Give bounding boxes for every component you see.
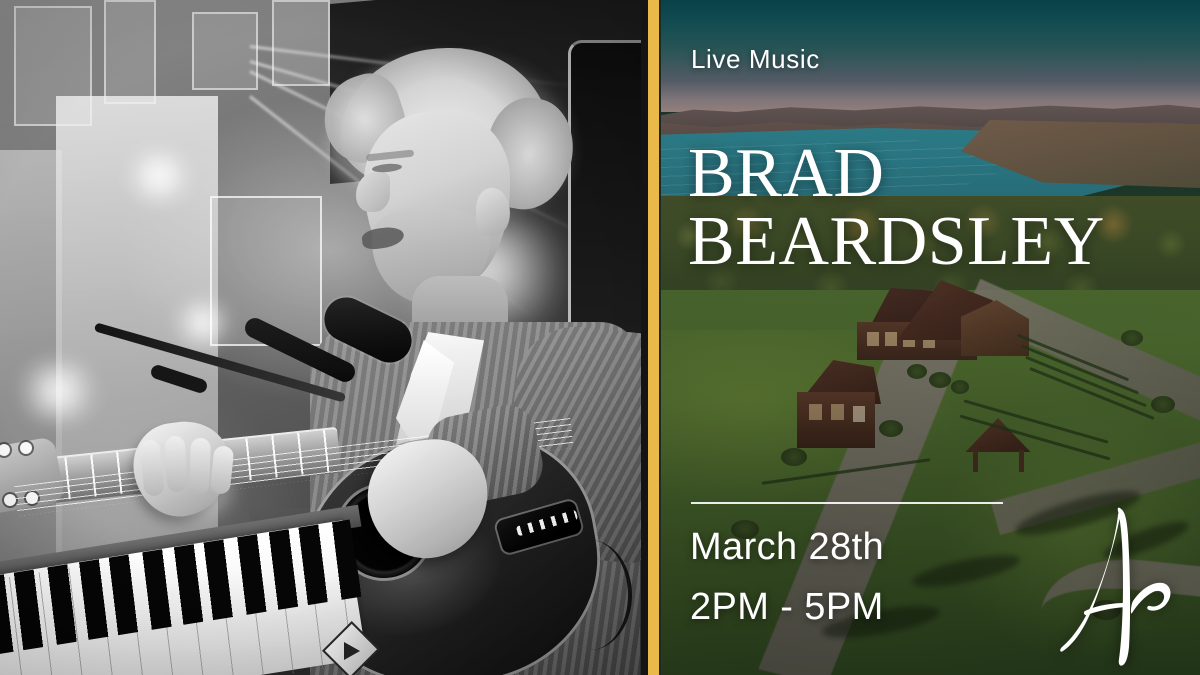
logo-letter-a-crossbar — [1084, 603, 1127, 615]
guitar-tuning-peg — [4, 494, 16, 506]
performer-finger — [189, 438, 211, 495]
wall-picture-frame — [104, 0, 156, 104]
building-window — [831, 404, 844, 420]
event-date: March 28th — [690, 526, 884, 569]
gold-divider-bar — [648, 0, 659, 675]
shrub — [929, 372, 951, 388]
performer-finger — [165, 436, 188, 493]
artist-last-name: BEARDSLEY — [688, 208, 1188, 276]
shrub — [951, 380, 969, 394]
guitar-tuning-peg — [20, 442, 32, 454]
performer-nose — [356, 172, 390, 212]
shrub — [781, 448, 807, 466]
horizontal-rule-divider — [691, 502, 1003, 504]
stage-lamp-glow — [168, 300, 238, 346]
stage-lamp-glow — [120, 150, 198, 202]
building-window — [853, 406, 865, 422]
wall-picture-frame — [192, 12, 258, 90]
event-flyer: Live Music BRAD BEARDSLEY March 28th 2PM… — [0, 0, 1200, 675]
pavilion-post — [973, 450, 978, 472]
shrub — [1121, 330, 1143, 346]
artist-first-name: BRAD — [688, 140, 1188, 208]
event-category-label: Live Music — [691, 44, 820, 75]
venue-logo — [1055, 505, 1181, 670]
logo-letter-a-right-stroke — [1118, 508, 1130, 666]
event-time: 2PM - 5PM — [690, 586, 884, 629]
pavilion-post — [1019, 450, 1024, 472]
instrument-cable — [548, 540, 632, 650]
artist-name-title: BRAD BEARDSLEY — [688, 140, 1188, 276]
building-window — [867, 332, 879, 346]
shrub — [1151, 396, 1175, 413]
performer-ear — [476, 188, 510, 236]
building-window — [809, 404, 822, 420]
logo-letter-v-stroke — [1131, 583, 1171, 614]
shrub — [907, 364, 927, 379]
logo-letter-a-left-stroke — [1060, 509, 1121, 652]
shrub — [879, 420, 903, 437]
divider-dark-edge — [641, 0, 648, 675]
performer-photo-panel — [0, 0, 641, 675]
building-window — [885, 332, 897, 346]
